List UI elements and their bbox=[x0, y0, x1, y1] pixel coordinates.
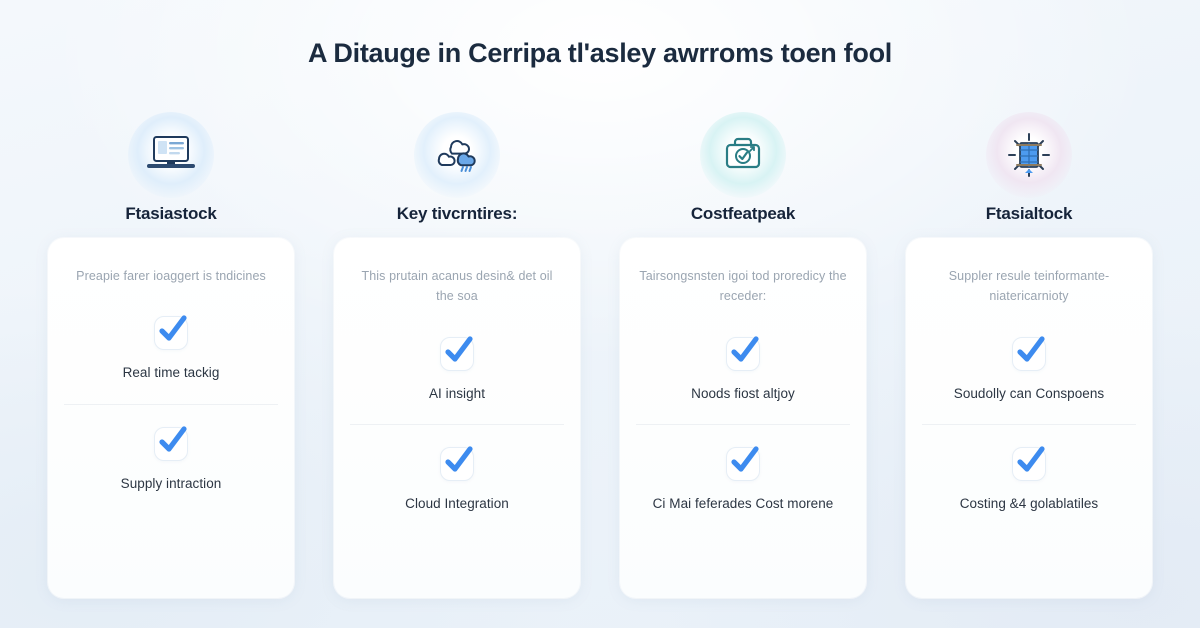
column-2-card: This prutain acanus desin& det oil the s… bbox=[334, 238, 580, 598]
laptop-document-icon bbox=[145, 133, 197, 177]
column-3-card: Tairsongsnsten igoi tod proredicy the re… bbox=[620, 238, 866, 598]
page-title: A Ditauge in Cerripa tl'asley awrroms to… bbox=[0, 38, 1200, 69]
check-icon bbox=[1012, 447, 1046, 481]
column-3-description: Tairsongsnsten igoi tod proredicy the re… bbox=[638, 266, 848, 307]
column-2-icon-wrap bbox=[414, 112, 500, 198]
column-4-features: Soudolly can Conspoens Costing &4 golabl… bbox=[922, 333, 1136, 535]
check-icon bbox=[726, 447, 760, 481]
column-2-features: AI insight Cloud Integration bbox=[350, 333, 564, 535]
column-1-description: Preapie farer ioaggert is tndicines bbox=[76, 266, 266, 286]
column-4-icon-wrap bbox=[986, 112, 1072, 198]
feature-item[interactable]: Soudolly can Conspoens bbox=[922, 333, 1136, 424]
column-4-description: Suppler resule teinformante- niatericarn… bbox=[924, 266, 1134, 307]
check-icon bbox=[440, 337, 474, 371]
feature-column-1: Ftasiastock Preapie farer ioaggert is tn… bbox=[40, 112, 302, 602]
check-icon bbox=[726, 337, 760, 371]
feature-label: Cloud Integration bbox=[405, 494, 509, 514]
infographic-page: A Ditauge in Cerripa tl'asley awrroms to… bbox=[0, 0, 1200, 628]
feature-label: Soudolly can Conspoens bbox=[954, 384, 1104, 404]
column-2-description: This prutain acanus desin& det oil the s… bbox=[352, 266, 562, 307]
feature-column-3: Costfeatpeak Tairsongsnsten igoi tod pro… bbox=[612, 112, 874, 602]
server-rays-icon bbox=[1003, 131, 1055, 179]
feature-label: AI insight bbox=[429, 384, 485, 404]
clouds-icon bbox=[431, 133, 483, 177]
column-1-features: Real time tackig Supply intraction bbox=[64, 312, 278, 514]
column-1-card: Preapie farer ioaggert is tndicines Real… bbox=[48, 238, 294, 598]
check-icon bbox=[1012, 337, 1046, 371]
column-3-features: Noods fiost altjoy Ci Mai feferades Cost… bbox=[636, 333, 850, 535]
feature-item[interactable]: Costing &4 golablatiles bbox=[922, 424, 1136, 534]
feature-label: Real time tackig bbox=[123, 363, 220, 383]
column-1-heading: Ftasiastock bbox=[125, 204, 216, 224]
briefcase-check-icon bbox=[719, 133, 767, 177]
feature-item[interactable]: Noods fiost altjoy bbox=[636, 333, 850, 424]
column-3-heading: Costfeatpeak bbox=[691, 204, 795, 224]
column-1-icon-wrap bbox=[128, 112, 214, 198]
feature-column-4: Ftasialtock Suppler resule teinformante-… bbox=[898, 112, 1160, 602]
check-icon bbox=[440, 447, 474, 481]
column-2-heading: Key tivcrntires: bbox=[397, 204, 518, 224]
column-4-heading: Ftasialtock bbox=[986, 204, 1073, 224]
feature-columns: Ftasiastock Preapie farer ioaggert is tn… bbox=[40, 112, 1160, 602]
feature-item[interactable]: Ci Mai feferades Cost morene bbox=[636, 424, 850, 534]
feature-label: Noods fiost altjoy bbox=[691, 384, 795, 404]
check-icon bbox=[154, 427, 188, 461]
feature-label: Costing &4 golablatiles bbox=[960, 494, 1098, 514]
feature-item[interactable]: Cloud Integration bbox=[350, 424, 564, 534]
feature-item[interactable]: Real time tackig bbox=[64, 312, 278, 403]
feature-item[interactable]: AI insight bbox=[350, 333, 564, 424]
feature-label: Ci Mai feferades Cost morene bbox=[653, 494, 834, 514]
feature-label: Supply intraction bbox=[121, 474, 222, 494]
feature-column-2: Key tivcrntires: This prutain acanus des… bbox=[326, 112, 588, 602]
column-4-card: Suppler resule teinformante- niatericarn… bbox=[906, 238, 1152, 598]
check-icon bbox=[154, 316, 188, 350]
column-3-icon-wrap bbox=[700, 112, 786, 198]
feature-item[interactable]: Supply intraction bbox=[64, 404, 278, 514]
